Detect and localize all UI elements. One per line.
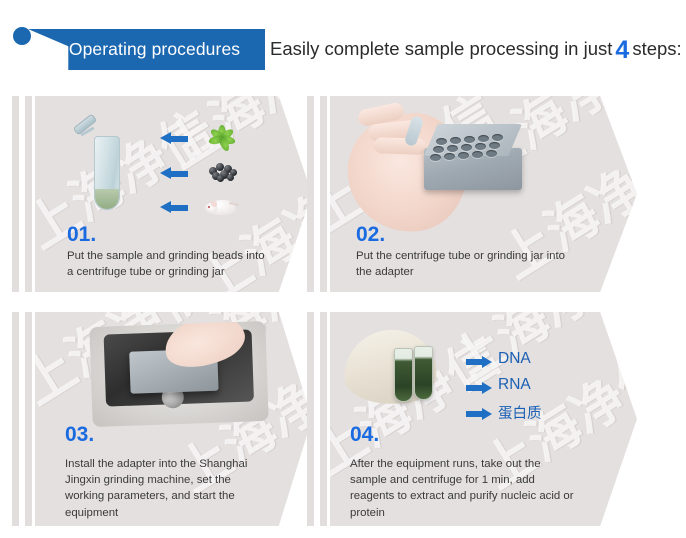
step-description: Install the adapter into the Shanghai Ji… xyxy=(65,456,265,521)
operating-procedures-banner: Operating procedures xyxy=(28,29,265,70)
step-number: 02. xyxy=(356,224,385,245)
leaf-icon xyxy=(207,123,237,151)
tagline-before: Easily complete sample processing in jus… xyxy=(270,38,612,60)
output-label-rna: RNA xyxy=(498,376,531,394)
step-number: 04. xyxy=(350,424,379,445)
centrifuge-tube-icon xyxy=(73,118,143,218)
step-card-01[interactable]: 上海净信 上海净信 上海净信 xyxy=(12,96,312,292)
card-accent-bar xyxy=(25,96,32,292)
step-card-04[interactable]: 上海净信 上海净信 上海净信 DNA RNA 蛋白质 04. After the… xyxy=(307,312,637,526)
card-body: 上海净信 上海净信 上海净信 xyxy=(35,96,312,292)
step-description: Put the sample and grinding beads into a… xyxy=(67,248,272,280)
card-accent-bar xyxy=(307,96,314,292)
hand-installing-adapter-into-machine-photo xyxy=(35,312,295,432)
hand-holding-adapter-block-photo xyxy=(330,96,590,236)
left-arrow-icon xyxy=(160,167,188,180)
step-card-02[interactable]: 上海净信 上海净信 上海净信 xyxy=(307,96,637,292)
page-header: Operating procedures Easily complete sam… xyxy=(0,0,686,84)
card-accent-bar xyxy=(307,312,314,526)
step-number: 01. xyxy=(67,224,96,245)
grinding-beads-icon xyxy=(207,160,239,182)
right-arrow-icon xyxy=(466,408,492,420)
right-arrow-icon xyxy=(466,382,492,394)
mouse-icon xyxy=(205,195,239,217)
step-number: 03. xyxy=(65,424,94,445)
right-arrow-icon xyxy=(466,356,492,368)
card-body: 上海净信 上海净信 上海净信 03. Install the adapter i… xyxy=(35,312,312,526)
output-label-protein: 蛋白质 xyxy=(498,402,542,423)
left-arrow-icon xyxy=(160,132,188,145)
header-tagline: Easily complete sample processing in jus… xyxy=(270,29,682,69)
left-arrow-icon xyxy=(160,201,188,214)
output-label-dna: DNA xyxy=(498,350,531,368)
banner-label: Operating procedures xyxy=(28,29,265,70)
step-description: After the equipment runs, take out the s… xyxy=(350,456,580,521)
card-accent-bar xyxy=(12,96,19,292)
card-accent-bar xyxy=(25,312,32,526)
step-description: Put the centrifuge tube or grinding jar … xyxy=(356,248,581,280)
card-accent-bar xyxy=(320,312,327,526)
step-card-03[interactable]: 上海净信 上海净信 上海净信 03. Install the adapter i… xyxy=(12,312,312,526)
tagline-after: steps: xyxy=(632,38,681,60)
card-accent-bar xyxy=(320,96,327,292)
card-accent-bar xyxy=(12,312,19,526)
tagline-step-count: 4 xyxy=(612,38,632,63)
card-body: 上海净信 上海净信 上海净信 xyxy=(330,96,637,292)
card-body: 上海净信 上海净信 上海净信 DNA RNA 蛋白质 04. After the… xyxy=(330,312,637,526)
